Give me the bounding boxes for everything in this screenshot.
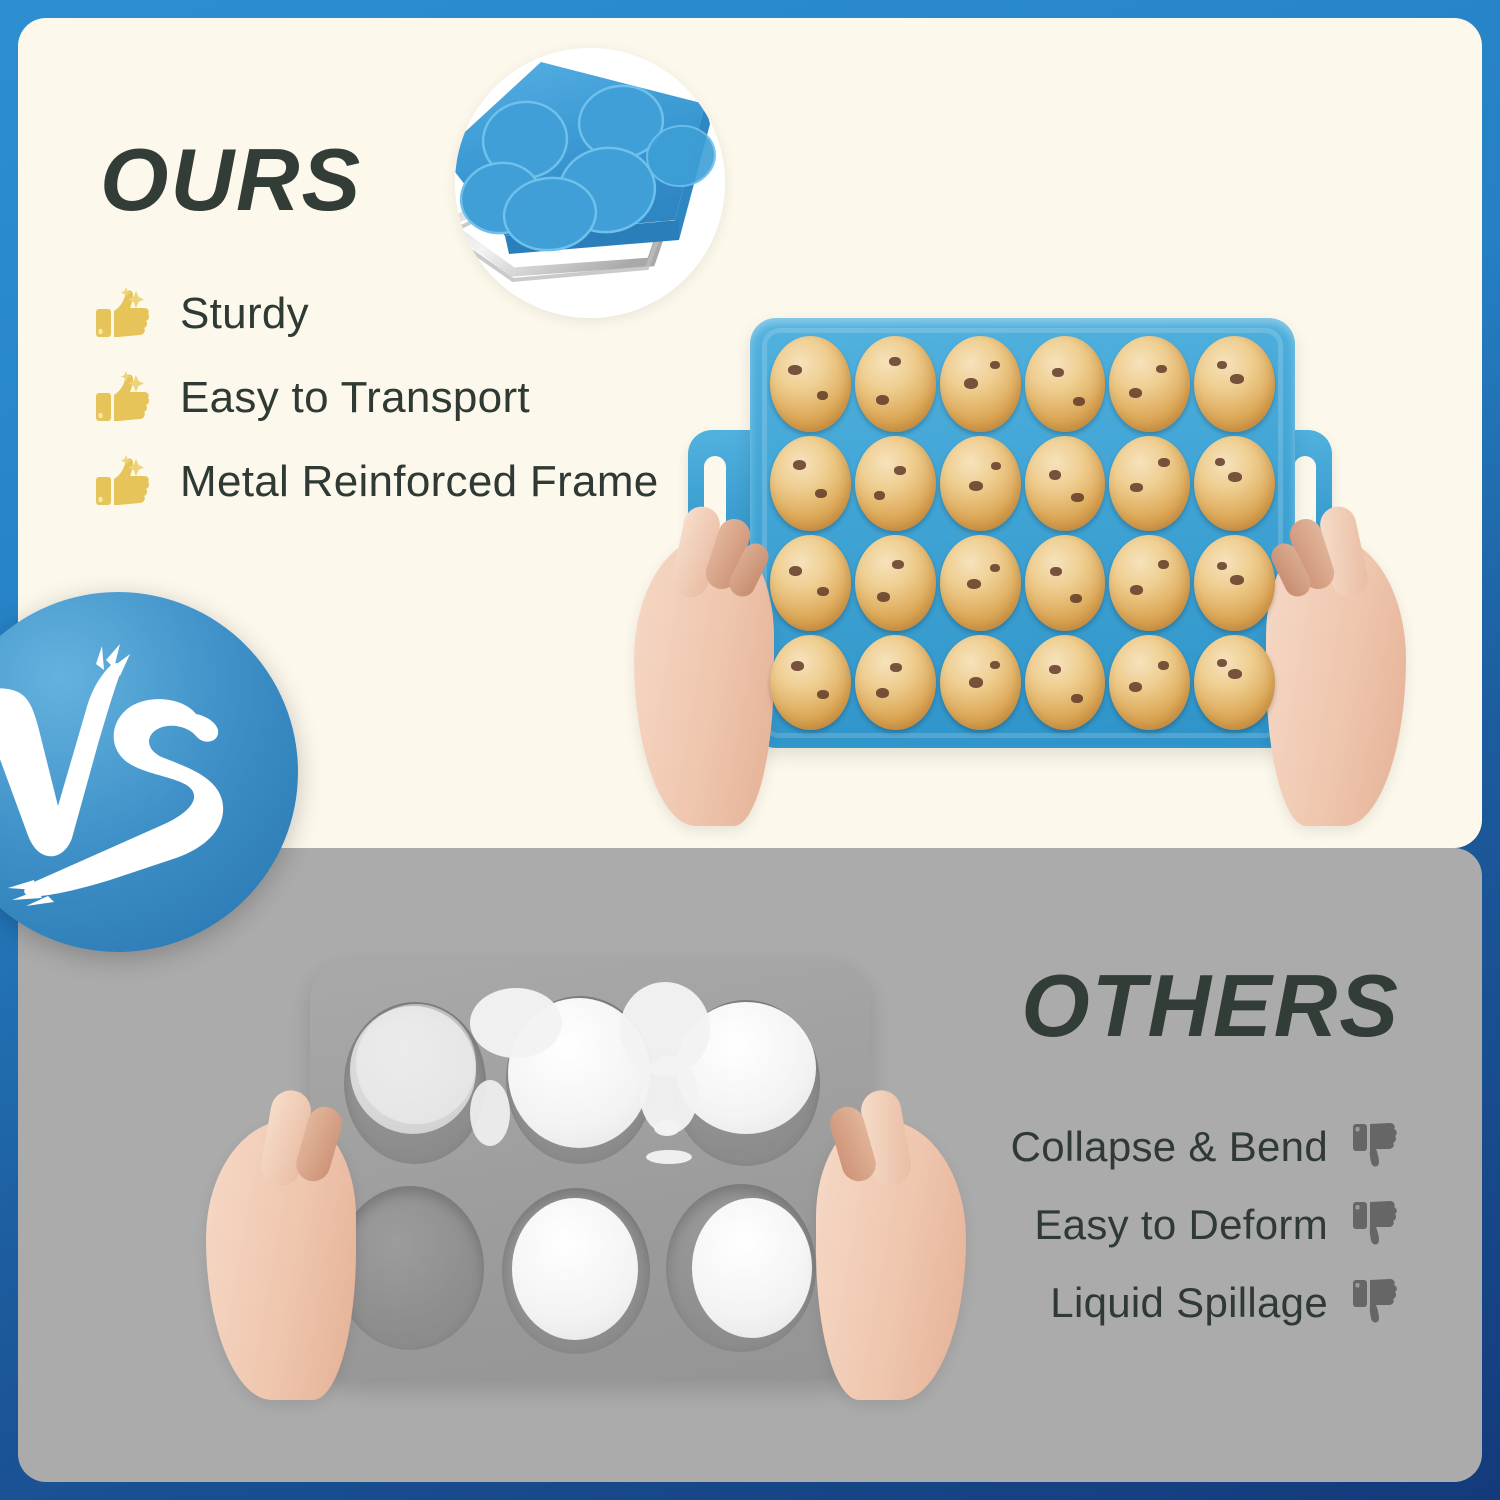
ours-feature-label: Sturdy [180,289,309,339]
muffin [1025,436,1106,532]
left-hand [188,1080,388,1410]
batter-spill [470,988,562,1058]
muffin [1194,336,1275,432]
ours-feature-row: Easy to Transport [92,356,659,440]
thumbs-up-sparkle-icon [92,451,154,513]
others-feature-row: Easy to Deform [1011,1186,1408,1264]
vs-badge [0,592,298,952]
others-feature-label: Collapse & Bend [1011,1123,1328,1171]
batter-spill [470,1080,510,1146]
thumbs-down-icon [1350,1196,1408,1254]
muffin [940,336,1021,432]
blue-muffin-tray-photo [610,300,1410,840]
muffin [940,436,1021,532]
ours-title: OURS [100,136,362,224]
muffin [1109,535,1190,631]
muffin [855,436,936,532]
others-feature-label: Easy to Deform [1034,1201,1328,1249]
muffin [1194,436,1275,532]
muffin [1025,336,1106,432]
muffin [770,535,851,631]
thumbs-down-icon [1350,1118,1408,1176]
muffin [770,336,851,432]
right-hand [784,1080,984,1410]
others-feature-label: Liquid Spillage [1050,1279,1328,1327]
muffin [1109,635,1190,731]
others-feature-row: Collapse & Bend [1011,1108,1408,1186]
vs-brush-text [0,592,298,952]
muffin [770,436,851,532]
others-feature-row: Liquid Spillage [1011,1264,1408,1342]
muffin [855,336,936,432]
muffin [940,535,1021,631]
muffin [1109,436,1190,532]
muffin [940,635,1021,731]
muffin [1025,635,1106,731]
muffin [855,535,936,631]
ours-feature-label: Easy to Transport [180,373,530,423]
thumbs-down-icon [1350,1274,1408,1332]
muffin [770,635,851,731]
batter-spill [646,1150,692,1164]
ours-feature-label: Metal Reinforced Frame [180,457,659,507]
others-title: OTHERS [1021,962,1400,1050]
thumbs-up-sparkle-icon [92,367,154,429]
ours-feature-row: Sturdy [92,272,659,356]
thumbs-up-sparkle-icon [92,283,154,345]
muffin [1194,535,1275,631]
others-feature-list: Collapse & Bend Easy to Deform Liqui [1011,1108,1408,1342]
gray-mold-photo [200,950,960,1470]
muffin-grid [770,336,1275,730]
muffin [855,635,936,731]
ours-feature-list: Sturdy Easy to Transport [92,272,659,524]
muffin [1025,535,1106,631]
muffin [1109,336,1190,432]
muffin [1194,635,1275,731]
mold-cup [502,1188,650,1354]
batter-spill [654,1120,680,1136]
ours-feature-row: Metal Reinforced Frame [92,440,659,524]
